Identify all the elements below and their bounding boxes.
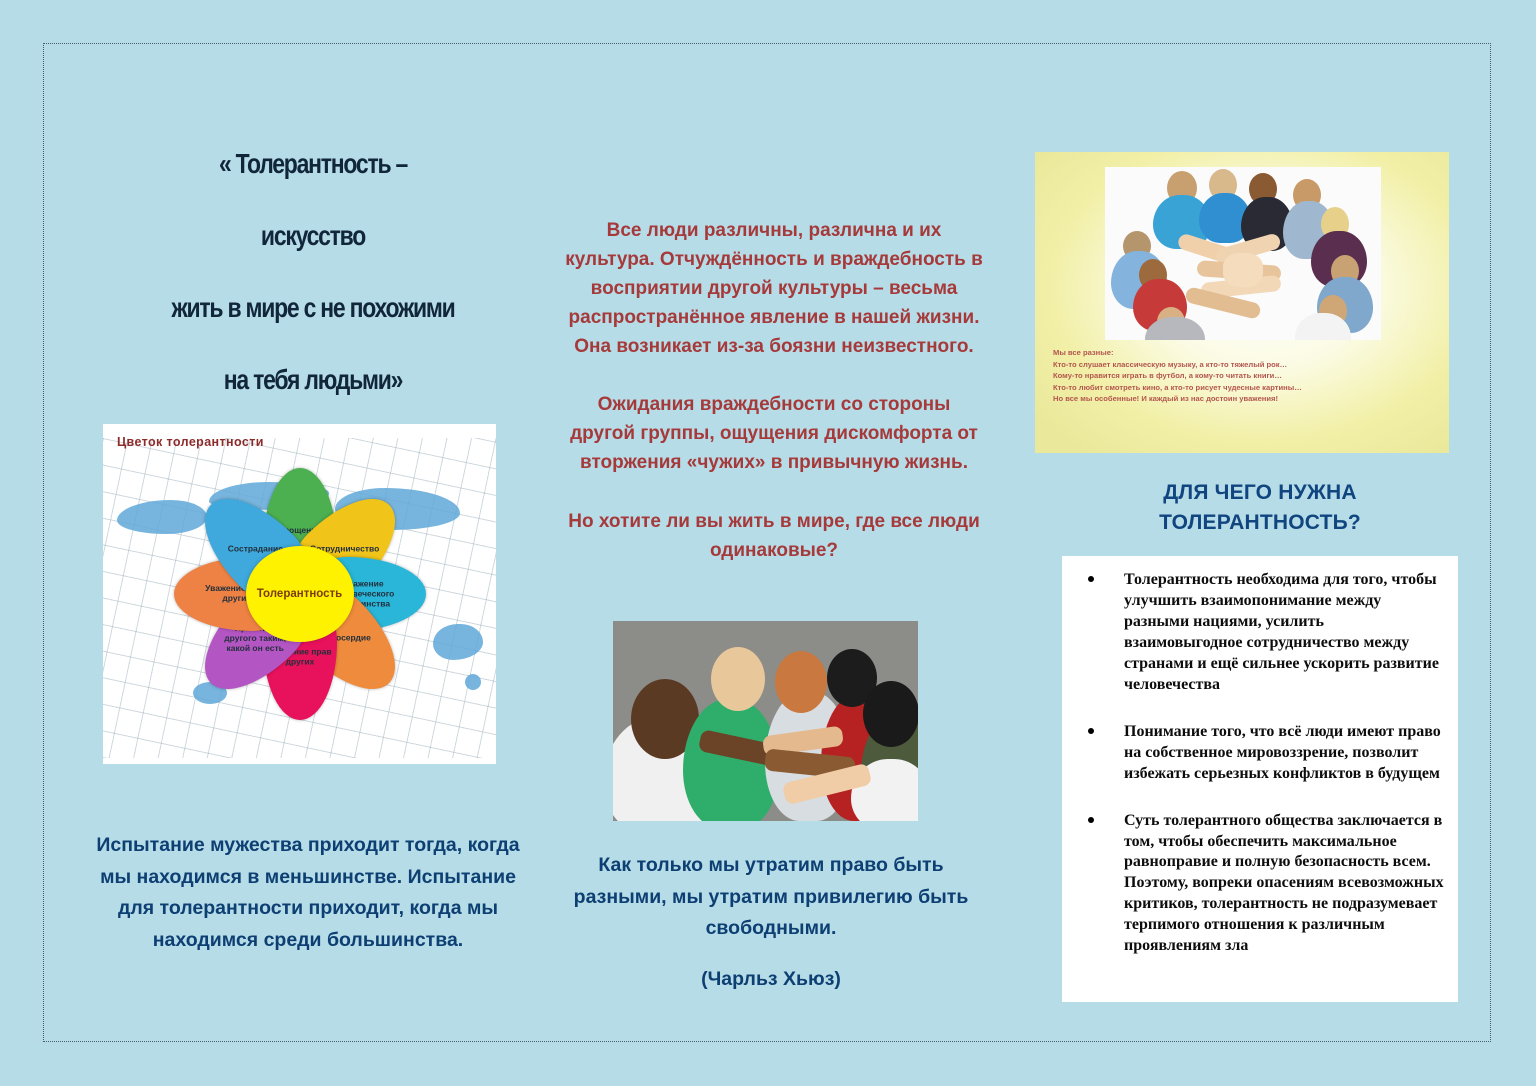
continent-shape [465, 674, 481, 690]
flower-core-label: Толерантность [257, 588, 343, 600]
title-line-4: на тебя людьми» [141, 366, 485, 394]
tolerance-benefits-panel: Толерантность необходима для того, чтобы… [1062, 556, 1458, 1002]
middle-paragraph-3: Но хотите ли вы жить в мире, где все люд… [565, 508, 983, 566]
bullet-dot-icon [1088, 817, 1094, 823]
caption-line-2: Кто-то слушает классическую музыку, а кт… [1053, 359, 1433, 371]
bullet-text: Понимание того, что всё люди имеют право… [1124, 723, 1441, 782]
caption-line-5: Но все мы особенные! И каждый из нас дос… [1053, 393, 1433, 405]
page-title: « Толерантность – искусство жить в мире … [141, 150, 485, 394]
bullet-text: Толерантность необходима для того, чтобы… [1124, 571, 1439, 693]
middle-paragraph-1: Все люди различны, различна и их культур… [565, 217, 983, 361]
team-hands-circle-photo [1105, 167, 1381, 340]
caption-line-3: Кому-то нравится играть в футбол, а кому… [1053, 370, 1433, 382]
list-item: Понимание того, что всё люди имеют право… [1080, 722, 1444, 785]
flower-petals: ПрощениеСотрудничествоУважение человечес… [147, 448, 452, 740]
right-heading: ДЛЯ ЧЕГО НУЖНА ТОЛЕРАНТНОСТЬ? [1062, 478, 1458, 538]
left-quote: Испытание мужества приходит тогда, когда… [88, 830, 528, 956]
bullet-dot-icon [1088, 728, 1094, 734]
bullet-list: Толерантность необходима для того, чтобы… [1062, 556, 1458, 957]
bullet-text: Суть толерантного общества заключается в… [1124, 812, 1444, 955]
bullet-dot-icon [1088, 576, 1094, 582]
middle-column: Все люди различны, различна и их культур… [565, 198, 983, 596]
flower-caption: Цветок толерантности [117, 435, 264, 449]
title-line-1: « Толерантность – [141, 150, 485, 178]
right-heading-line-1: ДЛЯ ЧЕГО НУЖНА [1163, 481, 1357, 504]
middle-quote-author: (Чарльз Хьюз) [556, 968, 986, 991]
flower-core: Толерантность [246, 546, 354, 642]
middle-quote: Как только мы утратим право быть разными… [556, 850, 986, 945]
list-item: Суть толерантного общества заключается в… [1080, 811, 1444, 958]
caption-line-1: Мы все разные: [1053, 347, 1433, 359]
list-item: Толерантность необходима для того, чтобы… [1080, 570, 1444, 696]
tolerance-flower-diagram: Цветок толерантности ПрощениеСотрудничес… [103, 424, 496, 764]
we-are-all-different-poster: Мы все разные: Кто-то слушает классическ… [1035, 152, 1449, 453]
middle-paragraph-2: Ожидания враждебности со стороны другой … [565, 391, 983, 478]
poster-caption: Мы все разные: Кто-то слушает классическ… [1053, 347, 1433, 405]
left-column: « Толерантность – искусство жить в мире … [103, 150, 523, 394]
title-line-3: жить в мире с не похожими [141, 294, 485, 322]
title-line-2: искусство [141, 222, 485, 250]
right-heading-line-2: ТОЛЕРАНТНОСТЬ? [1159, 511, 1361, 534]
caption-line-4: Кто-то любит смотреть кино, а кто-то рис… [1053, 382, 1433, 394]
friends-hands-together-photo [613, 621, 918, 821]
